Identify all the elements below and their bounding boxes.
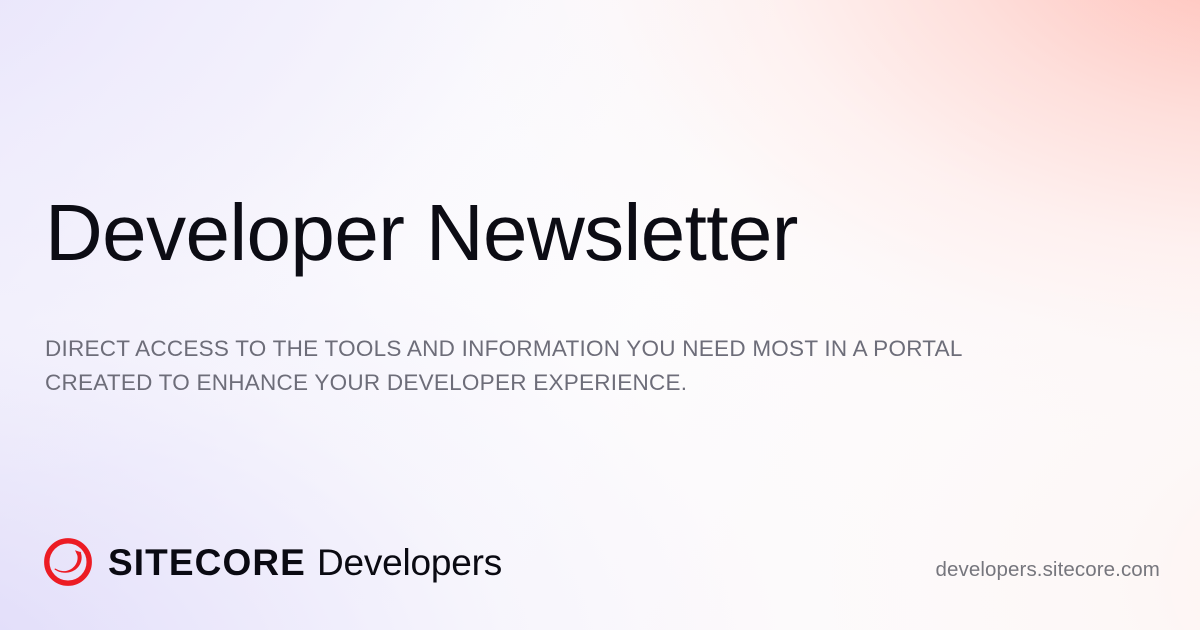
page-title: Developer Newsletter (45, 190, 798, 276)
brand-name-sitecore: SITECORE (108, 544, 306, 581)
brand-lockup: SITECORE Developers (42, 536, 502, 588)
brand-name-developers: Developers (317, 544, 502, 581)
sitecore-ring-swoosh-icon (42, 536, 94, 588)
footer-url: developers.sitecore.com (936, 560, 1161, 581)
card-content: Developer Newsletter Direct access to th… (0, 0, 1200, 630)
page-subtitle: Direct access to the tools and informati… (45, 332, 1055, 399)
social-share-card: Developer Newsletter Direct access to th… (0, 0, 1200, 630)
page-subtitle-line-2: created to enhance your developer experi… (45, 366, 1055, 400)
page-subtitle-line-1: Direct access to the tools and informati… (45, 332, 1055, 366)
brand-wordmark: SITECORE Developers (108, 544, 502, 581)
